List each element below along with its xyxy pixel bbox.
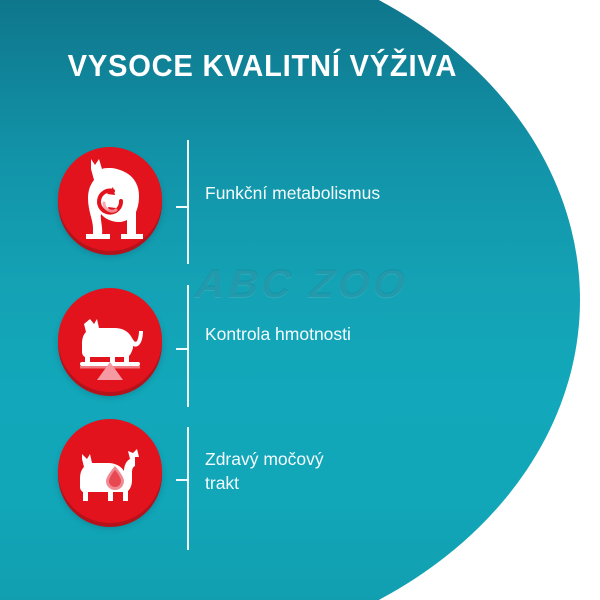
page-title: VYSOCE KVALITNÍ VÝŽIVA <box>18 48 582 84</box>
benefit-label-line1: Funkční metabolismus <box>205 183 380 203</box>
cat-urinary-droplet-icon <box>58 419 162 523</box>
benefit-label-urinary: Zdravý močový trakt <box>205 447 324 495</box>
benefit-row-metabolism: Funkční metabolismus <box>0 147 600 267</box>
poster-root: VYSOCE KVALITNÍ VÝŽIVA ABC ZOO <box>0 0 600 600</box>
benefit-label-weight: Kontrola hmotnosti <box>205 322 351 346</box>
benefit-label-line1: Zdravý močový <box>205 449 324 469</box>
benefit-label-metabolism: Funkční metabolismus <box>205 181 380 205</box>
benefit-label-line2: trakt <box>205 473 239 493</box>
benefit-label-line1: Kontrola hmotnosti <box>205 324 351 344</box>
poster-content: VYSOCE KVALITNÍ VÝŽIVA ABC ZOO <box>0 0 600 600</box>
benefit-row-urinary: Zdravý močový trakt <box>0 419 600 539</box>
cat-balance-scale-icon <box>58 288 162 392</box>
benefit-row-weight: Kontrola hmotnosti <box>0 288 600 408</box>
cat-metabolism-icon <box>58 147 162 251</box>
